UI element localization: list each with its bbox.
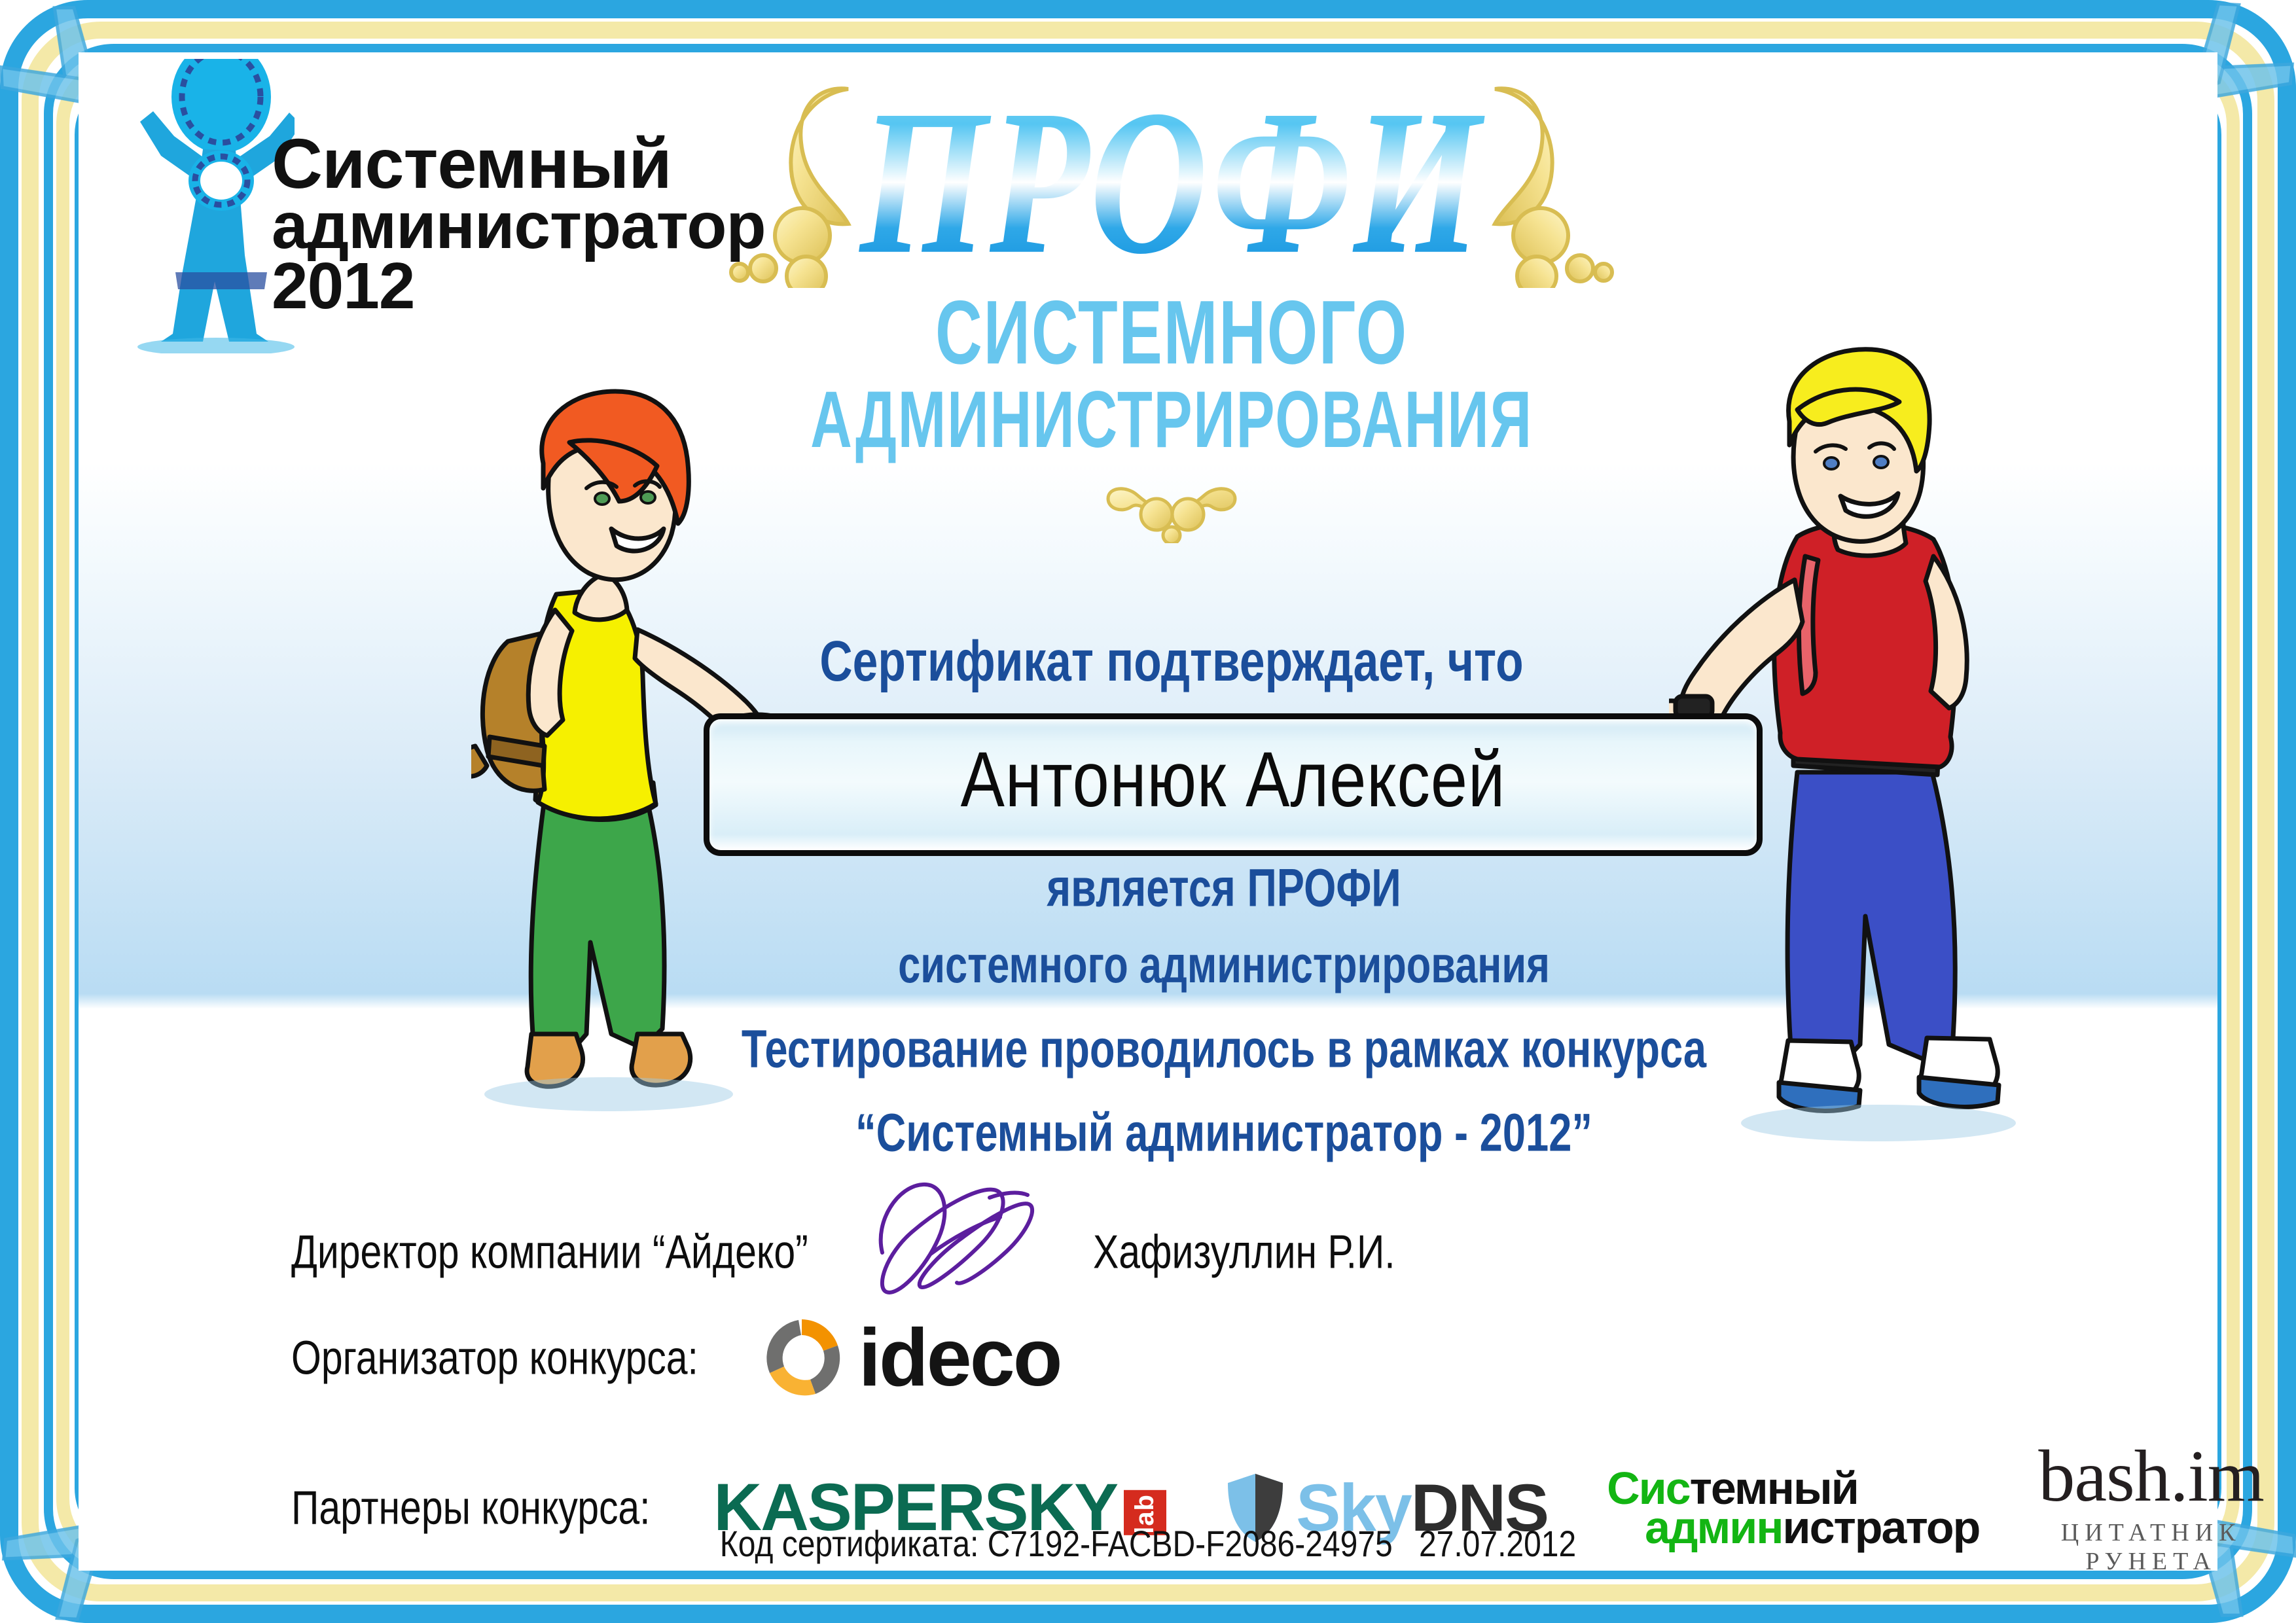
ideco-logo: ideco [759, 1315, 1061, 1400]
ideco-wordmark: ideco [859, 1317, 1061, 1399]
title-sub-1: СИСТЕМНОГО [774, 289, 1569, 376]
event-logo-text: Системный администратор 2012 [272, 131, 723, 316]
certificate-canvas: Системный администратор 2012 [79, 52, 2217, 1571]
body-line-1: является ПРОФИ [707, 857, 1742, 919]
gold-flourish-right-icon [1473, 72, 1623, 288]
director-row: Директор компании “Айдеко” Хафизуллин Р.… [79, 1198, 2217, 1306]
director-name: Хафизуллин Р.И. [1093, 1225, 1395, 1279]
ideco-ring-icon [759, 1315, 844, 1400]
title-sub-2: АДМИНИСТРИРОВАНИЯ [774, 382, 1569, 459]
certificate-footer: Директор компании “Айдеко” Хафизуллин Р.… [79, 1165, 2217, 1571]
code-label: Код сертификата: [720, 1524, 979, 1565]
certificate-body: является ПРОФИ системного администрирова… [668, 857, 1780, 1153]
body-line-3: Тестирование проводилось в рамках конкур… [707, 1018, 1742, 1080]
recipient-name: Антонюк Алексей [725, 736, 1741, 825]
title-block: ПРОФИ СИСТЕМНОГО АДМИНИСТРИРОВАНИЯ [740, 65, 1604, 609]
body-line-4: “Системный администратор - 2012” [707, 1102, 1742, 1164]
body-line-2: системного администрирования [707, 935, 1742, 994]
code-value: C7192-FACBD-F2086-24975 [988, 1524, 1393, 1565]
snowman-mascot-icon [105, 59, 295, 353]
brand-line-3: 2012 [272, 256, 723, 316]
title-main: ПРОФИ [757, 79, 1586, 286]
organizer-row: Организатор конкурса: ideco [79, 1315, 2217, 1400]
bashim-wordmark: bash.im [2038, 1440, 2264, 1513]
gold-flourish-bottom-icon [1096, 484, 1247, 543]
organizer-label: Организатор конкурса: [291, 1331, 698, 1385]
director-label: Директор компании “Айдеко” [291, 1225, 808, 1279]
signature-icon [852, 1175, 1068, 1306]
event-logo: Системный администратор 2012 [105, 59, 733, 412]
brand-line-2: администратор [272, 196, 723, 256]
code-date: 27.07.2012 [1419, 1524, 1576, 1565]
certificate-page: Системный администратор 2012 [0, 0, 2296, 1623]
certificate-code-line: Код сертификата: C7192-FACBD-F2086-24975… [121, 1523, 2174, 1565]
confirm-text: Сертификат подтверждает, что [766, 628, 1578, 694]
brand-line-1: Системный [272, 131, 723, 196]
recipient-name-plate: Антонюк Алексей [704, 713, 1763, 856]
